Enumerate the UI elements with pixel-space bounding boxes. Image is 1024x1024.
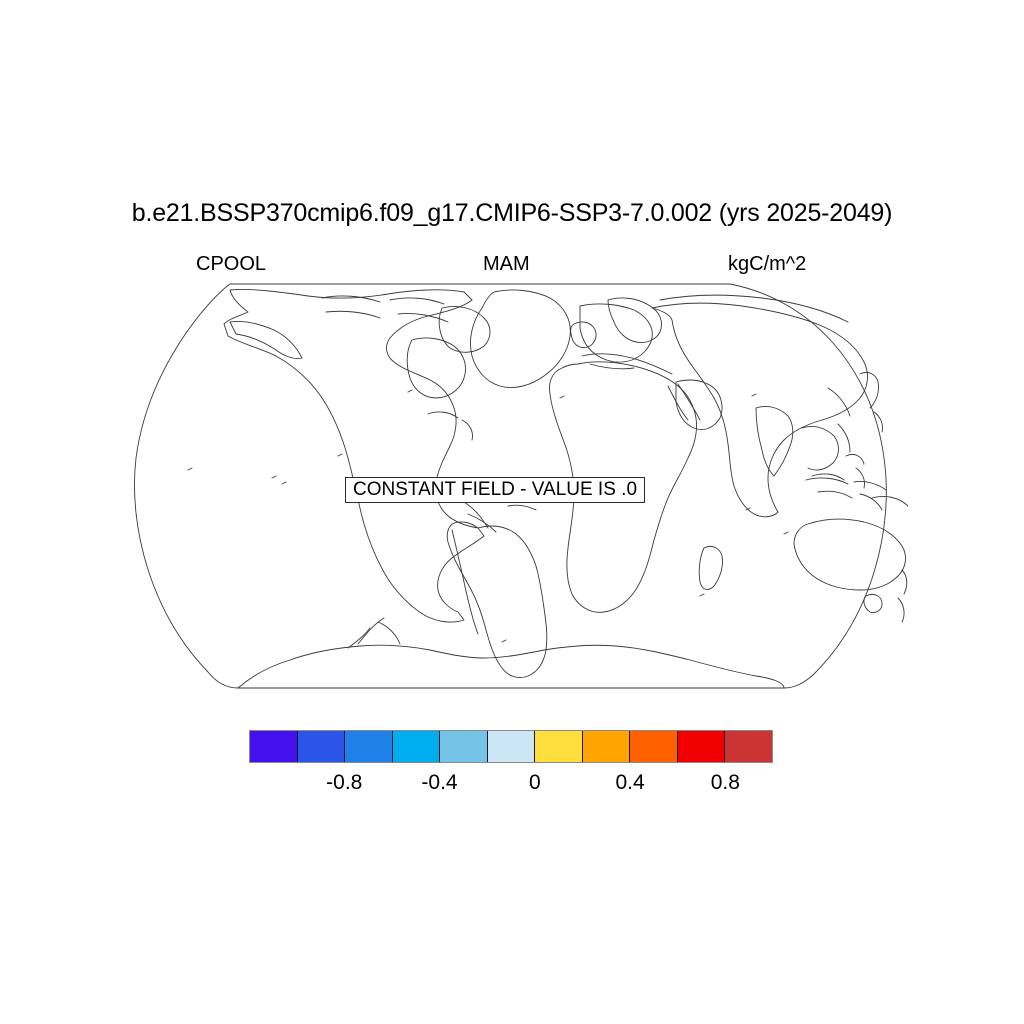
coastline-british-isles (571, 322, 596, 348)
coastline-australia (794, 519, 905, 590)
coastline-southeast-asia (802, 426, 844, 480)
constant-field-text: CONSTANT FIELD - VALUE IS .0 (353, 479, 637, 501)
coastline-baffin-island (439, 306, 490, 352)
visualization-canvas: b.e21.BSSP370cmip6.f09_g17.CMIP6-SSP3-7.… (0, 0, 1024, 1024)
coastline-arabia (676, 380, 722, 430)
coastline-north-america (224, 289, 484, 622)
page-title: b.e21.BSSP370cmip6.f09_g17.CMIP6-SSP3-7.… (0, 198, 1024, 228)
coastline-mediterranean (582, 354, 672, 374)
colorbar-segment (393, 731, 441, 762)
coastline-antarctic-peninsula (348, 618, 400, 648)
coastline-japan (860, 372, 883, 432)
colorbar-segment (488, 731, 536, 762)
variable-name-label: CPOOL (196, 252, 266, 276)
units-label: kgC/m^2 (728, 252, 806, 276)
coastline-philippines (846, 454, 865, 488)
colorbar-segment (630, 731, 678, 762)
coastline-south-america (447, 522, 547, 678)
coastline-alaska (230, 321, 302, 358)
colorbar-segment (298, 731, 346, 762)
coastline-great-lakes (428, 412, 473, 440)
constant-field-annotation: CONSTANT FIELD - VALUE IS .0 (345, 477, 645, 503)
coastline-korea-china-east (828, 388, 850, 452)
coastline-europe (580, 304, 652, 362)
colorbar-tick-labels: -0.8-0.400.40.8 (249, 770, 773, 796)
coastline-indonesia (806, 478, 886, 510)
colorbar-segment (583, 731, 631, 762)
coastline-asia (652, 303, 867, 517)
colorbar-tick-label: 0.4 (590, 770, 670, 795)
coastline-madagascar (699, 546, 722, 589)
colorbar-segment (250, 731, 298, 762)
coastline-canadian-arctic (322, 296, 448, 322)
colorbar-tick-label: -0.4 (400, 770, 480, 795)
coastline-hudson-bay (407, 338, 465, 398)
coastline-siberia-north (660, 295, 848, 322)
colorbar-tick-label: 0 (495, 770, 575, 795)
colorbar-segment (345, 731, 393, 762)
coastline-india (756, 406, 793, 476)
coastline-new-guinea (872, 496, 908, 506)
colorbar-segment (535, 731, 583, 762)
coastline-tasmania (864, 594, 882, 612)
colorbar-tick-label: 0.8 (685, 770, 765, 795)
colorbar-tick-label: -0.8 (304, 770, 384, 795)
colorbar-segment (440, 731, 488, 762)
coastline-antarctica (238, 645, 784, 688)
island-marks (188, 390, 788, 642)
coastline-andes-west (452, 530, 478, 634)
season-label: MAM (483, 252, 530, 276)
coastline-new-zealand (898, 570, 907, 622)
colorbar-segment (725, 731, 772, 762)
colorbar-segment (678, 731, 726, 762)
colorbar (249, 730, 773, 763)
